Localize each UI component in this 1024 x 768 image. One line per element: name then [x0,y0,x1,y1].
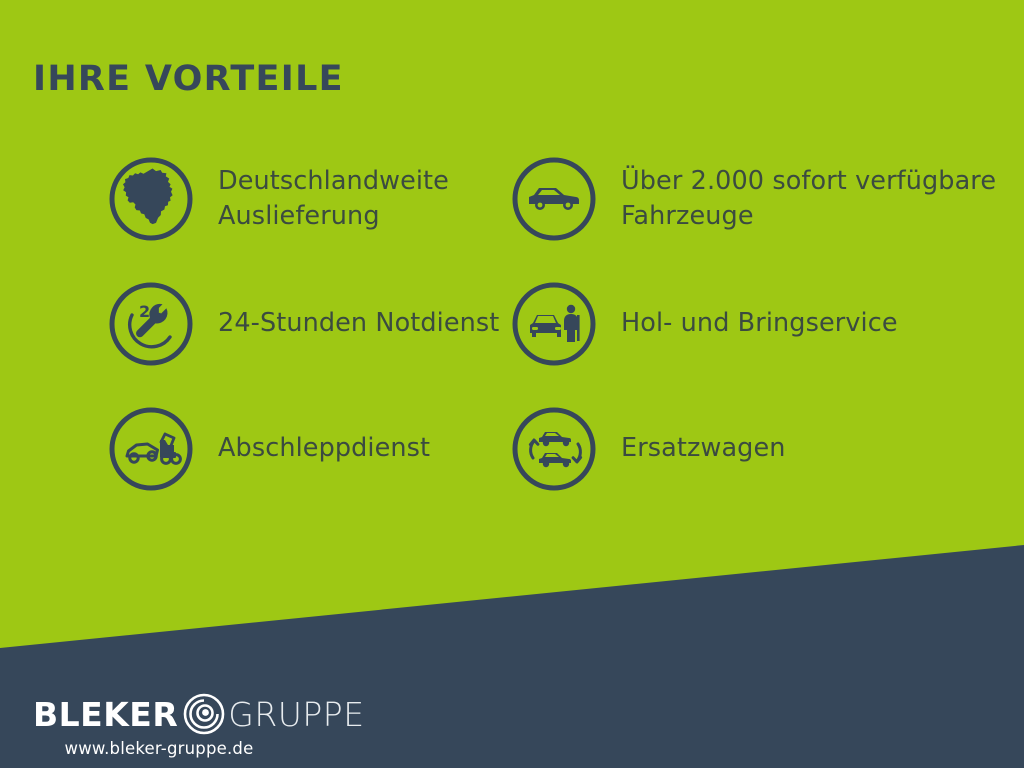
logo-wordmark-secondary: GRUPPE [228,698,364,731]
two-cars-exchange-icon [511,406,597,492]
footer-logo-block: BLEKER GRUPPE www.bleker-gruppe.de [33,693,365,758]
slide-content: IHRE VORTEILE Deutschlandweite Ausliefer… [0,0,1024,768]
benefit-label: Ersatzwagen [621,400,1024,498]
twentyfour-hour-wrench-icon: 24 [108,281,194,367]
benefit-item-deutschlandweite-auslieferung: Deutschlandweite Auslieferung [108,150,508,275]
benefit-item-ersatzwagen: Ersatzwagen [511,400,981,525]
benefit-item-hol-und-bringservice: Hol- und Bringservice [511,275,981,400]
benefit-item-24-stunden-notdienst: 24 24-Stunden Notdienst [108,275,508,400]
benefit-item-abschleppdienst: Abschleppdienst [108,400,508,525]
benefit-label: Über 2.000 sofort verfügbare Fahrzeuge [621,150,1024,248]
slide-root: IHRE VORTEILE Deutschlandweite Ausliefer… [0,0,1024,768]
benefit-label: Hol- und Bringservice [621,275,1024,373]
benefit-item-verfuegbare-fahrzeuge: Über 2.000 sofort verfügbare Fahrzeuge [511,150,981,275]
benefit-label: 24-Stunden Notdienst [218,275,548,373]
car-icon [511,156,597,242]
page-title: IHRE VORTEILE [33,62,344,97]
benefit-label: Abschleppdienst [218,400,548,498]
benefit-label: Deutschlandweite Auslieferung [218,150,548,248]
car-with-driver-icon [511,281,597,367]
website-url: www.bleker-gruppe.de [33,739,285,758]
logo-wordmark-primary: BLEKER [33,698,178,731]
benefits-right-column: Über 2.000 sofort verfügbare Fahrzeuge [511,150,981,525]
benefits-left-column: Deutschlandweite Auslieferung 24 24-Stun… [108,150,508,525]
spiral-circle-icon [182,692,226,736]
tow-truck-icon [108,406,194,492]
germany-map-icon [108,156,194,242]
logo-lockup: BLEKER GRUPPE [33,693,365,735]
